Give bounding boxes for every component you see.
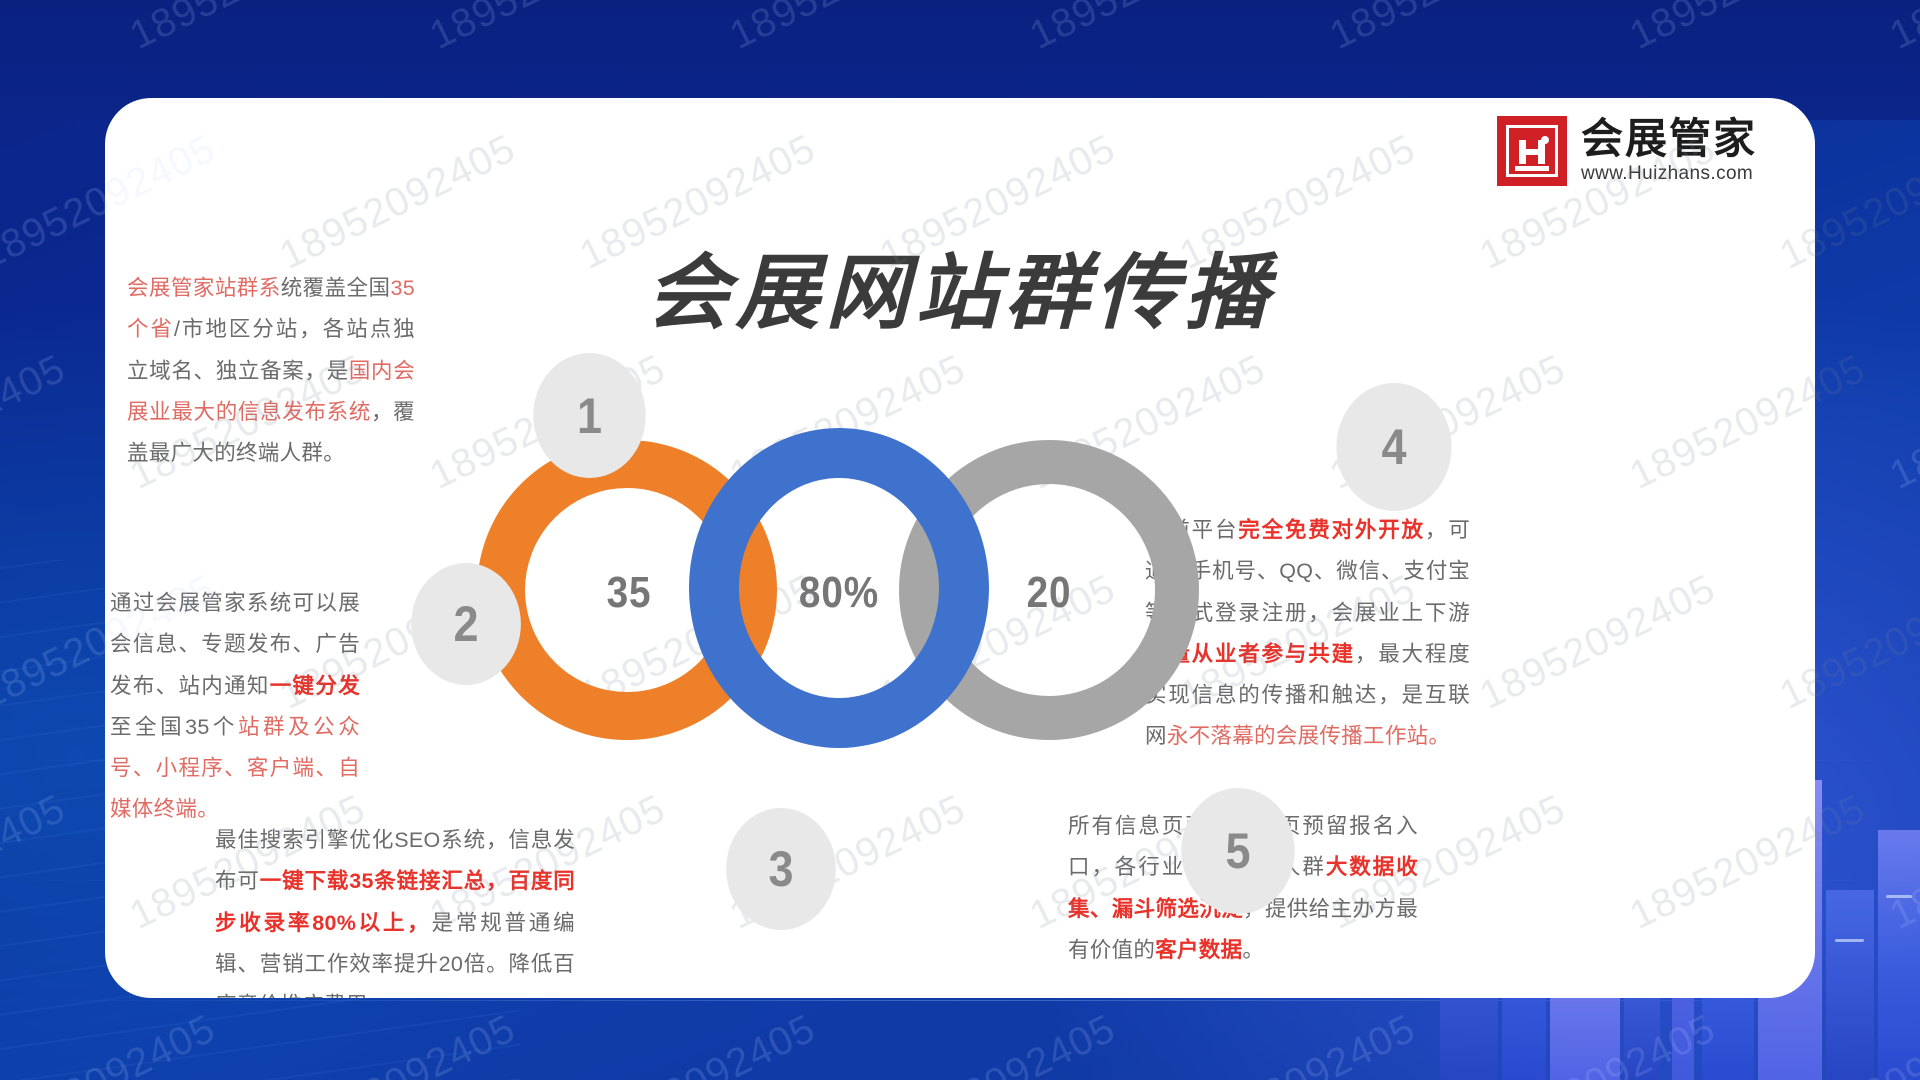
text-segment-4: 。 [1242, 938, 1264, 962]
text-segment-5: 永不落幕的会展传播工作站。 [1167, 724, 1450, 748]
bubble-3: 3 [726, 808, 836, 930]
bubble-5: 5 [1181, 788, 1294, 914]
huizhans-square-logo-icon [1497, 116, 1567, 186]
description-block-2: 通过会展管家系统可以展会信息、专题发布、广告发布、站内通知一键分发至全国35个站… [110, 583, 360, 831]
content-card: 会展管家 www.Huizhans.com 会展网站群传播 35 80% 20 … [105, 98, 1815, 998]
bubble-2: 2 [411, 563, 521, 685]
text-segment-3: 客户数据 [1155, 938, 1242, 962]
bubble-1: 1 [533, 353, 646, 478]
text-segment-1: 一键分发 [270, 674, 360, 698]
description-block-1: 会展管家站群系统覆盖全国35个省/市地区分站，各站点独立域名、独立备案，是国内会… [127, 268, 415, 474]
description-block-3: 最佳搜索引擎优化SEO系统，信息发布可一键下载35条链接汇总，百度同步收录率80… [215, 820, 575, 998]
brand-name-cn: 会展管家 [1581, 117, 1757, 161]
text-segment-1: 完全免费对外开放 [1238, 518, 1425, 542]
ring-value-20: 20 [987, 568, 1110, 618]
brand-logo[interactable]: 会展管家 www.Huizhans.com [1497, 116, 1757, 186]
brand-logo-text: 会展管家 www.Huizhans.com [1581, 117, 1757, 185]
text-segment-0: 会展管家站群系 [127, 276, 281, 300]
ring-value-35: 35 [567, 568, 690, 618]
ring-value-80: 80% [777, 568, 900, 618]
text-segment-2: 至全国35个 [110, 715, 238, 739]
brand-website-url: www.Huizhans.com [1581, 163, 1757, 185]
bubble-4: 4 [1336, 383, 1451, 511]
text-segment-1: 统覆盖全国 [281, 276, 391, 300]
description-block-4: 当前平台完全免费对外开放，可通过手机号、QQ、微信、支付宝等形式登录注册，会展业… [1145, 510, 1470, 758]
